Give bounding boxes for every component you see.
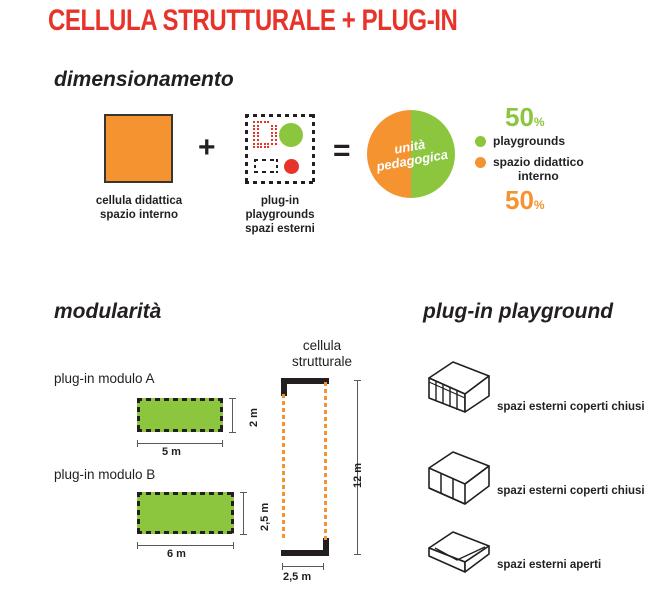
label-cellula-strutturale: cellula strutturale xyxy=(276,338,368,370)
small-dashed-rect-icon xyxy=(254,159,278,173)
bracket-top xyxy=(281,378,329,384)
red-dot xyxy=(267,146,269,148)
iso-tray-open-icon xyxy=(425,530,493,581)
caption-line: plug-in xyxy=(261,195,299,207)
modulo-b-rect xyxy=(137,492,234,534)
plus-operator: + xyxy=(198,133,216,163)
label-modulo-b: plug-in modulo B xyxy=(54,467,155,482)
page-title: CELLULA STRUTTURALE + PLUG-IN xyxy=(48,4,458,38)
red-dot xyxy=(260,143,262,145)
dim-tick xyxy=(354,554,361,555)
red-dot xyxy=(253,139,255,141)
caption-line: cellula didattica xyxy=(96,195,182,207)
caption-line: spazio interno xyxy=(100,209,178,221)
dim-line-cellula-width xyxy=(282,566,324,567)
red-dot xyxy=(271,135,273,137)
caption-plugin-playgrounds: plug-in playgrounds spazi esterni xyxy=(228,194,332,236)
green-circle-icon xyxy=(279,123,303,147)
red-dot xyxy=(275,132,277,134)
equals-operator: = xyxy=(333,136,351,166)
red-dot xyxy=(267,143,269,145)
iso-box-open-frame-icon xyxy=(425,448,493,515)
dim-label-modulo-b-height: 2,5 m xyxy=(259,503,271,531)
playground-label-2: spazi esterni coperti chiusi xyxy=(497,485,645,497)
percent-sign: % xyxy=(534,198,545,212)
legend-orange-dot-icon xyxy=(475,157,486,168)
red-dot xyxy=(275,135,277,137)
section-heading-dimensionamento: dimensionamento xyxy=(54,68,234,92)
caption-line: spazi esterni xyxy=(245,223,315,235)
red-dot xyxy=(253,143,255,145)
red-dot xyxy=(275,125,277,127)
red-dot xyxy=(275,139,277,141)
red-dot xyxy=(264,143,266,145)
pie-chart-unita-pedagogica: unità pedagogica xyxy=(367,110,455,198)
red-dot xyxy=(253,128,255,130)
red-dot xyxy=(264,121,266,123)
red-circle-icon xyxy=(284,159,299,174)
value-number: 50 xyxy=(505,102,534,132)
caption-cellula-didattica: cellula didattica spazio interno xyxy=(87,194,191,222)
dim-label-cellula-height: 12 m xyxy=(352,463,364,488)
dim-tick xyxy=(137,440,138,447)
red-dot xyxy=(253,132,255,134)
dim-label-modulo-b-width: 6 m xyxy=(167,548,186,560)
red-dot xyxy=(257,139,259,141)
red-dot xyxy=(253,146,255,148)
red-dot xyxy=(271,125,273,127)
red-dot xyxy=(257,146,259,148)
red-dot xyxy=(257,121,259,123)
label-modulo-a: plug-in modulo A xyxy=(54,371,155,386)
dim-tick xyxy=(282,563,283,570)
red-dot-pattern-icon xyxy=(253,121,279,151)
red-dot xyxy=(267,121,269,123)
bracket-bottom-right-stub xyxy=(323,538,329,556)
dim-tick xyxy=(137,542,138,549)
red-dot xyxy=(264,146,266,148)
dim-tick xyxy=(240,492,247,493)
modulo-a-rect xyxy=(137,398,223,432)
dim-tick xyxy=(233,542,234,549)
red-dot xyxy=(271,128,273,130)
cellula-strutturale-drawing xyxy=(281,378,341,556)
dotted-wall-left xyxy=(282,394,285,540)
red-dot xyxy=(253,135,255,137)
red-dot xyxy=(260,146,262,148)
dim-tick xyxy=(222,440,223,447)
dim-line-modulo-a-height xyxy=(232,398,233,432)
legend-green-dot-icon xyxy=(475,136,486,147)
bracket-bottom xyxy=(281,550,329,556)
label-line: strutturale xyxy=(292,354,352,369)
dim-line-modulo-a-width xyxy=(137,443,223,444)
red-dot xyxy=(253,125,255,127)
pie-center-label: unità pedagogica xyxy=(365,133,457,176)
dim-line-modulo-b-width xyxy=(137,545,234,546)
section-heading-playground: plug-in playground xyxy=(423,300,613,324)
red-dot xyxy=(257,143,259,145)
value-playgrounds-percent: 50% xyxy=(505,104,545,130)
red-dot xyxy=(253,121,255,123)
legend-label: playgrounds xyxy=(493,134,565,148)
red-dot xyxy=(260,121,262,123)
dim-label-cellula-width: 2,5 m xyxy=(283,571,311,583)
dim-tick xyxy=(229,398,236,399)
legend-label: spazio didattico interno xyxy=(493,155,584,183)
red-dot xyxy=(271,139,273,141)
legend-label-line: interno xyxy=(493,169,584,183)
legend-label-line: spazio didattico xyxy=(493,155,584,169)
red-dot xyxy=(275,143,277,145)
dim-line-modulo-b-height xyxy=(243,492,244,534)
cellula-didattica-square xyxy=(104,114,173,183)
dim-tick xyxy=(354,380,361,381)
playground-label-1: spazi esterni coperti chiusi xyxy=(497,401,645,413)
iso-box-closed-slats-icon xyxy=(425,358,493,425)
red-dot xyxy=(257,125,259,127)
value-spazio-didattico-percent: 50% xyxy=(505,187,545,213)
legend-item-spazio-didattico: spazio didattico interno xyxy=(475,155,584,183)
dim-label-modulo-a-width: 5 m xyxy=(162,446,181,458)
plugin-playground-diagram xyxy=(245,114,315,184)
section-heading-modularita: modularità xyxy=(54,300,161,324)
caption-line: playgrounds xyxy=(245,209,314,221)
red-dot xyxy=(275,128,277,130)
dotted-wall-right xyxy=(324,382,327,540)
value-number: 50 xyxy=(505,185,534,215)
red-dot xyxy=(271,143,273,145)
legend-item-playgrounds: playgrounds xyxy=(475,134,565,148)
dim-tick xyxy=(323,563,324,570)
red-dot xyxy=(257,128,259,130)
red-dot xyxy=(271,132,273,134)
label-line: cellula xyxy=(303,338,341,353)
percent-sign: % xyxy=(534,115,545,129)
playground-label-3: spazi esterni aperti xyxy=(497,559,601,571)
dim-label-modulo-a-height: 2 m xyxy=(248,408,260,427)
dim-tick xyxy=(240,534,247,535)
red-dot xyxy=(257,135,259,137)
dim-tick xyxy=(229,432,236,433)
red-dot xyxy=(257,132,259,134)
